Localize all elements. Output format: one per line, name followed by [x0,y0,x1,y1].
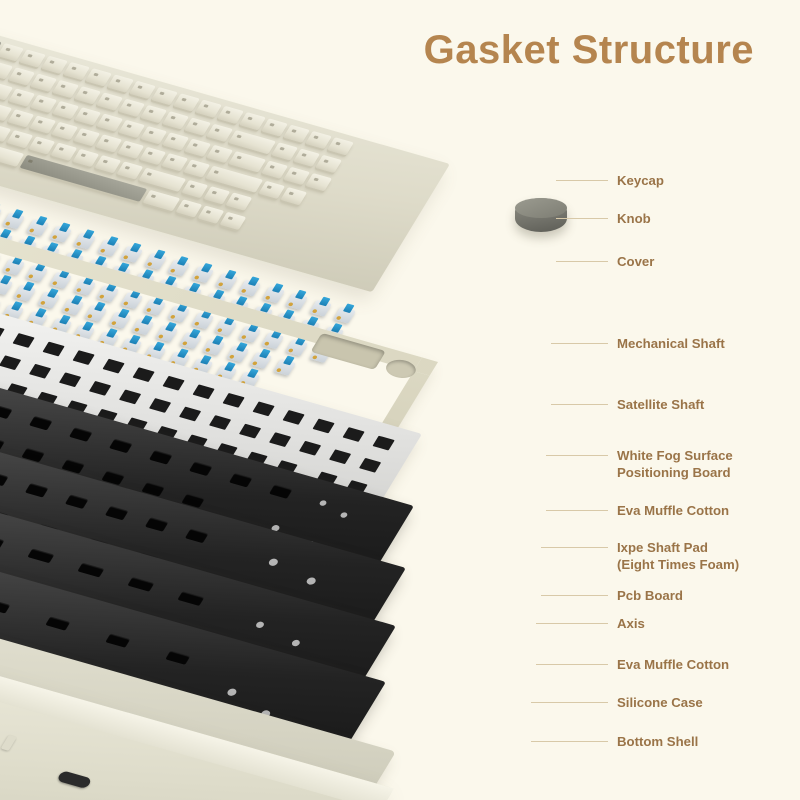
callout-pcb-board: Pcb Board [541,587,683,604]
callout-satellite-shaft: Satellite Shaft [551,396,704,413]
switch [285,293,308,310]
leader-line [546,510,608,511]
switch [97,239,120,256]
callout-eva-muffle-cotton-top: Eva Muffle Cotton [546,502,729,519]
key [280,187,307,205]
callout-label: Eva Muffle Cotton [617,656,729,673]
switch [215,273,238,290]
callout-knob: Knob [556,210,651,227]
callout-axis: Axis [536,615,645,632]
leader-line [541,595,608,596]
leader-line [546,455,608,456]
switch [120,246,143,263]
leader-line [551,343,608,344]
exploded-keyboard-illustration: AJAZZ [0,0,640,800]
key [219,212,246,230]
switch [333,306,356,323]
key [225,192,252,210]
leader-line [541,547,608,548]
leader-line [536,623,608,624]
callout-ixpe-shaft-pad: Ixpe Shaft Pad (Eight Times Foam) [541,539,739,573]
switch [191,266,214,283]
key [327,137,354,155]
callout-silicone-case: Silicone Case [531,694,703,711]
leader-line [551,404,608,405]
leader-line [556,261,608,262]
callout-label: Cover [617,253,654,270]
leader-line [556,218,608,219]
callout-label: Ixpe Shaft Pad (Eight Times Foam) [617,539,739,573]
key [228,151,266,172]
switch [73,232,96,249]
callout-eva-muffle-cotton-bottom: Eva Muffle Cotton [536,656,729,673]
callout-positioning-board: White Fog Surface Positioning Board [546,447,733,481]
leader-line [531,741,608,742]
callout-label: White Fog Surface Positioning Board [617,447,733,481]
switch [26,219,49,236]
switch [262,286,285,303]
key [142,190,180,211]
callout-label: Pcb Board [617,587,683,604]
callout-keycap: Keycap [556,172,664,189]
switch [168,259,191,276]
callout-label: Silicone Case [617,694,703,711]
switch [2,212,25,229]
callout-label: Mechanical Shaft [617,335,725,352]
callout-label: Eva Muffle Cotton [617,502,729,519]
callout-label: Axis [617,615,645,632]
key [305,173,332,191]
callout-bottom-shell: Bottom Shell [531,733,698,750]
standoff-post [1,735,17,751]
infographic-canvas: Gasket Structure [0,0,800,800]
switch [144,253,167,270]
leader-line [556,180,608,181]
switch [0,206,2,223]
key [315,155,342,173]
leader-line [531,702,608,703]
callout-mechanical-shaft: Mechanical Shaft [551,335,725,352]
switch [309,300,332,317]
callout-label: Keycap [617,172,664,189]
callout-label: Knob [617,210,651,227]
leader-line [536,664,608,665]
callout-cover: Cover [556,253,654,270]
switch [238,280,261,297]
callout-label: Bottom Shell [617,733,698,750]
switch [50,226,73,243]
rubber-foot [56,770,92,789]
callout-label: Satellite Shaft [617,396,704,413]
